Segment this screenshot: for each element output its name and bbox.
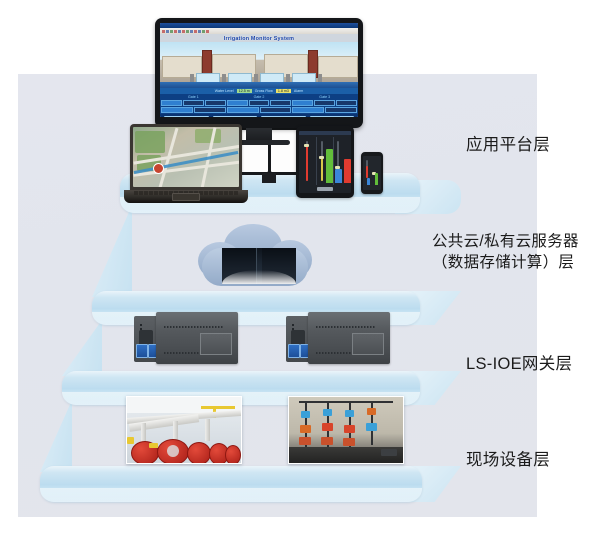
gate-value-cell[interactable] [325,107,357,113]
water-level-label: Water Level [215,89,234,93]
header-pipe [299,401,393,403]
pump-unit [187,442,211,464]
toolbar-icon[interactable] [174,30,177,33]
gate-column: Gate 3 [292,95,357,113]
gate-row [292,100,357,106]
valve-unit [366,423,377,431]
laptop-screen-map [133,127,239,187]
equipment-base [381,449,397,456]
dual-monitor-stand [262,173,276,183]
flow-label: Gross Flow [255,89,273,93]
gate-column: Gate 2 [227,95,292,113]
server-room-photo [222,248,296,284]
laptop-lid [130,124,242,190]
plc-gateway-right [286,310,390,366]
gate-name: Gate 1 [161,95,226,99]
serial-port-icon [288,344,300,358]
plc-display-window [352,333,384,355]
gate-value-cell[interactable] [161,107,193,113]
layer-label-application: 应用平台层 [466,135,550,155]
bar-green [375,173,378,185]
layer-label-cloud: 公共云/私有云服务器 （数据存储计算）层 [432,231,579,273]
platform-front-face [40,488,422,503]
gate-row [161,100,226,106]
exit-button[interactable]: EXIT [310,116,355,118]
pump-station-photo [126,396,242,464]
plc-body [156,312,238,364]
laptop-base [124,190,248,203]
toolbar-icon[interactable] [166,30,169,33]
map-field-parcel [135,131,165,153]
app-title: Irrigation Monitor System [160,34,358,42]
cloud-server-graphic [196,222,314,294]
dam-building [318,56,358,78]
water-body [160,82,358,88]
slider-handle[interactable] [304,144,309,147]
toolbar-icon[interactable] [190,30,193,33]
gate-name: Gate 3 [292,95,357,99]
valve-unit [321,437,333,445]
slider-handle[interactable] [319,156,324,159]
plc-body [308,312,390,364]
gate-row [227,100,292,106]
plc-display-window [200,333,232,355]
valve-unit [345,410,354,417]
dam-schematic-scene [160,42,358,88]
tablet-screen-dashboard [299,131,351,193]
slider-fill [366,166,368,178]
valve-unit [299,437,311,445]
water-level-value: 12.5 m [237,89,252,93]
bar-blue [335,169,342,183]
gate-value-cell[interactable] [314,100,335,106]
toolbar-icon[interactable] [170,30,173,33]
gate-value-cell[interactable] [227,107,259,113]
monitor-screen: Irrigation Monitor System Water Level 12… [160,23,358,117]
valve-unit [343,438,355,446]
valve-manifold-photo [288,396,404,464]
valve-unit [301,411,310,418]
pump-unit [225,445,241,464]
toolbar-icon[interactable] [186,30,189,33]
gate-value-cell[interactable] [249,100,270,106]
smartphone-device [361,152,383,194]
valve-unit [344,425,355,433]
bar-green [326,149,333,183]
flow-value: 1.8 m3 [276,89,291,93]
gate-control-grid: Gate 1 Gate 2 [160,94,358,114]
plc-gateway-left [134,310,238,366]
gate-name: Gate 2 [227,95,292,99]
about-button[interactable]: About [164,116,209,118]
valve-unit [323,409,332,416]
gate-value-cell[interactable] [292,100,313,106]
bar-blue [367,178,370,185]
gate-value-cell[interactable] [292,107,324,113]
platform-field-layer [40,466,422,502]
alarm-label: Alarm [294,89,303,93]
toolbar-icon[interactable] [206,30,209,33]
desktop-monitor: Irrigation Monitor System Water Level 12… [155,18,363,128]
riser-pipe [205,419,210,441]
laptop-device [130,124,248,203]
panel-divider [333,137,334,185]
valve-actuator [127,437,134,444]
gate-row [161,107,226,113]
valve-actuator [149,443,158,448]
laptop-touchpad[interactable] [172,193,200,201]
valve-unit [322,423,333,431]
features-button[interactable]: Features [213,116,258,118]
tablet-app-header [299,131,351,135]
vent-slots [164,326,224,328]
slider-fill [306,145,308,181]
panel-divider [316,137,317,185]
toolbar-icon[interactable] [162,30,165,33]
toolbar-icon[interactable] [202,30,205,33]
gate-value-cell[interactable] [270,100,291,106]
toolbar-icon[interactable] [198,30,201,33]
gate-value-cell[interactable] [183,100,204,106]
bar-red [344,159,351,183]
map-field-parcel [195,129,221,143]
gate-value-cell[interactable] [205,100,226,106]
tablet-device [296,126,354,198]
gate-value-cell[interactable] [336,100,357,106]
layer-label-gateway: LS-IOE网关层 [466,354,572,374]
crane-rail [201,406,235,409]
demo-button[interactable]: Demo [261,116,306,118]
app-button-bar: About Features Demo EXIT [160,114,358,118]
gate-column: Gate 1 [161,95,226,113]
toolbar-icon[interactable] [194,30,197,33]
layer-label-field: 现场设备层 [466,450,550,470]
toolbar-icon[interactable] [178,30,181,33]
tablet-action-button[interactable] [317,187,333,191]
slider-fill [321,157,323,181]
gate-value-cell[interactable] [161,100,182,106]
vent-slots [316,326,376,328]
gate-value-cell[interactable] [260,107,292,113]
gate-value-cell[interactable] [227,100,248,106]
riser-pipe [141,423,146,443]
gate-row [227,107,292,113]
map-location-pin[interactable] [153,163,164,174]
valve-unit [367,408,376,415]
gate-row [292,107,357,113]
toolbar-icon[interactable] [182,30,185,33]
phone-screen-dashboard [363,156,381,190]
serial-port-icon [136,344,148,358]
valve-unit [300,425,311,433]
gate-value-cell[interactable] [194,107,226,113]
pump-hub [167,445,179,457]
